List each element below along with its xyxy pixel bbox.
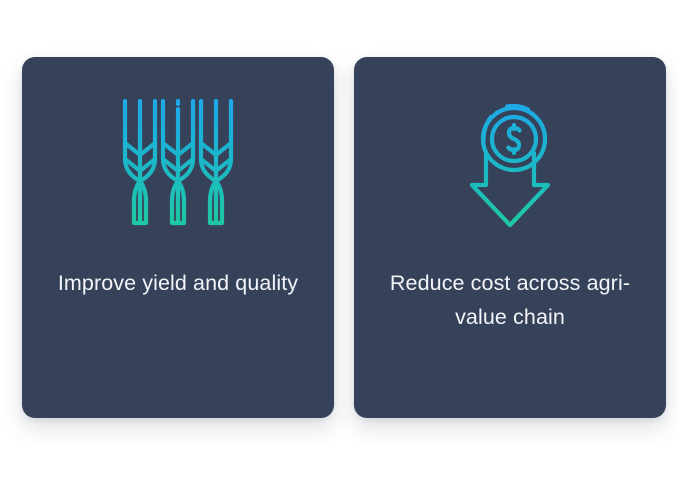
benefit-card-reduce-cost[interactable]: Reduce cost across agri-value chain <box>354 57 666 418</box>
coin-down-arrow-icon <box>445 94 575 234</box>
benefit-cards-container: Improve yield and quality <box>0 0 679 500</box>
wheat-stalks-icon <box>113 94 243 234</box>
card-title: Improve yield and quality <box>51 266 306 300</box>
card-title: Reduce cost across agri-value chain <box>383 266 638 334</box>
benefit-card-improve-yield[interactable]: Improve yield and quality <box>22 57 334 418</box>
